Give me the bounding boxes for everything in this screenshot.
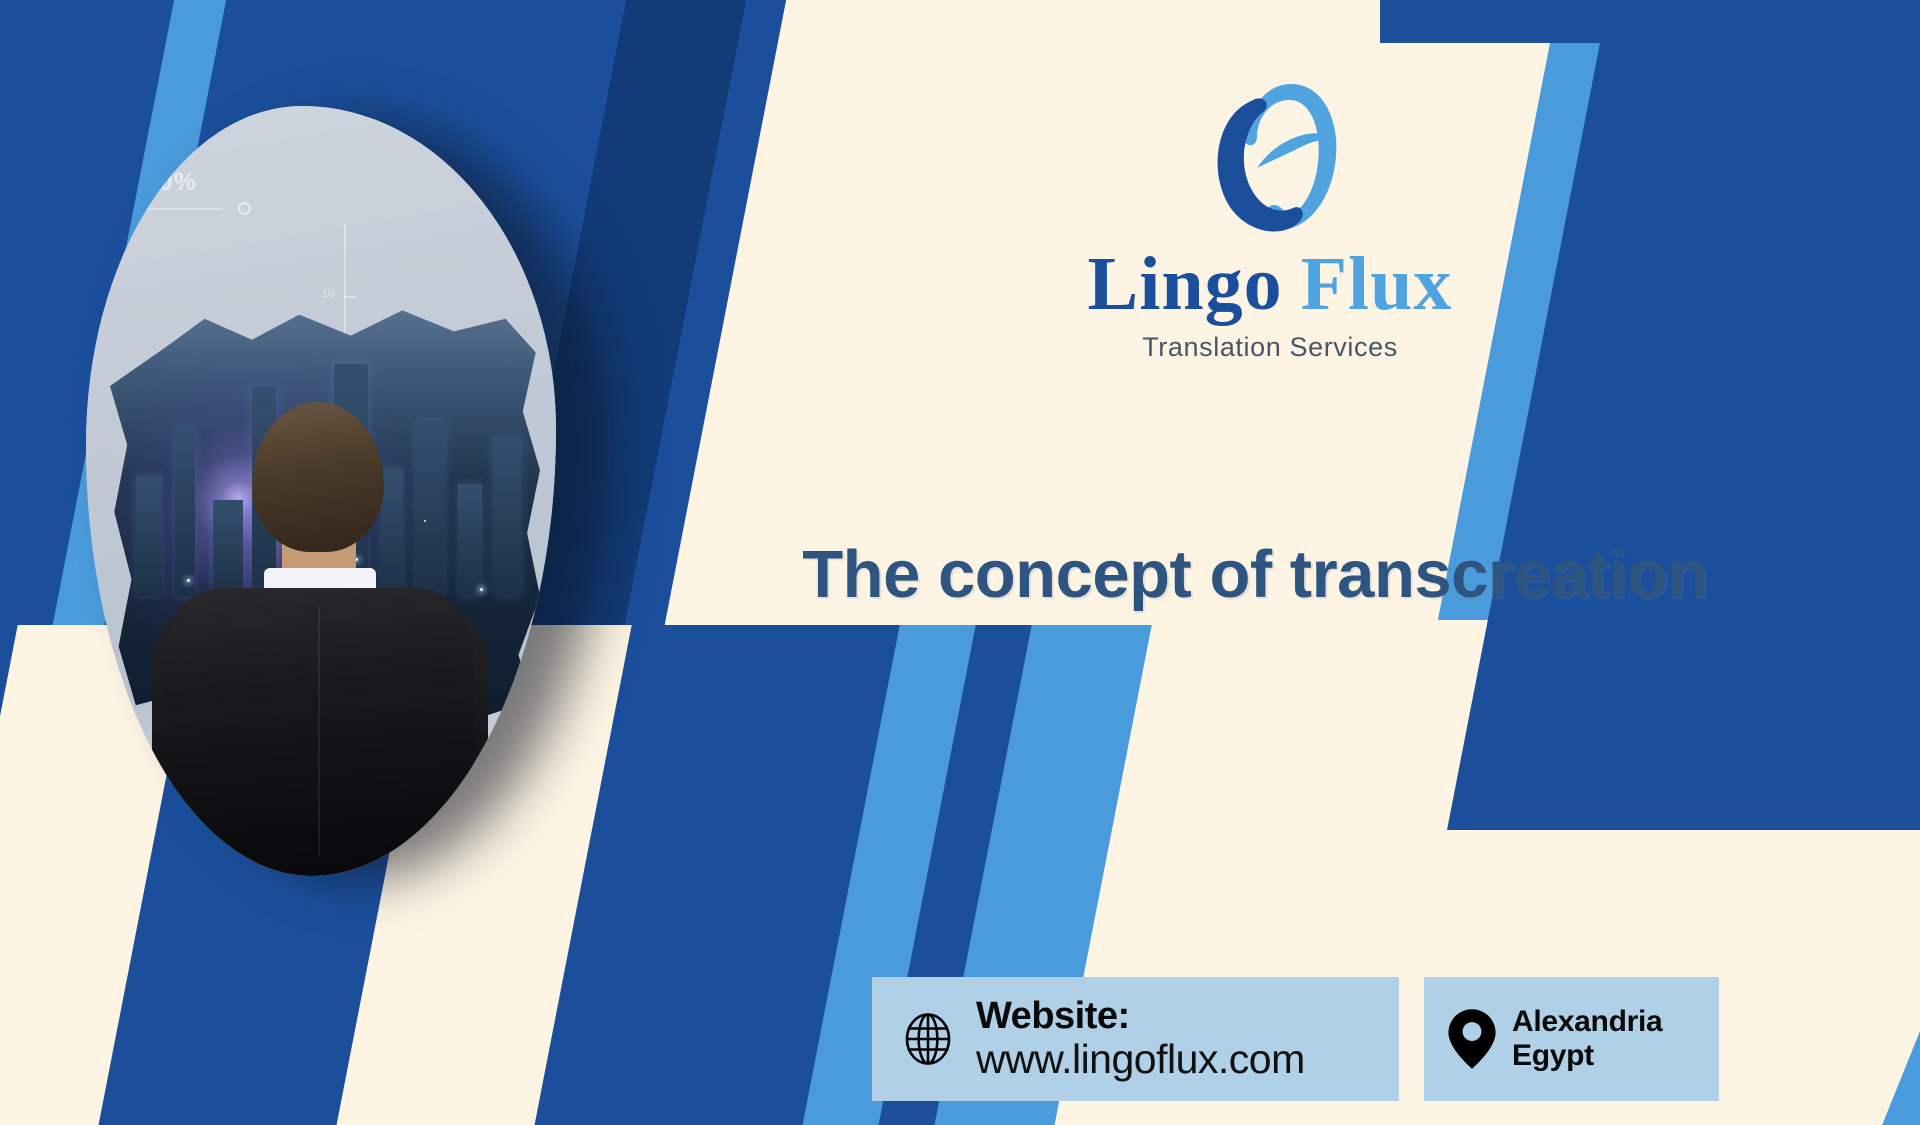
website-url[interactable]: www.lingoflux.com — [976, 1037, 1305, 1083]
photo-blob: 20% 10 9 — [86, 106, 556, 876]
map-pin-icon — [1446, 1008, 1498, 1070]
oval-monogram-icon — [1195, 72, 1345, 242]
location-country: Egypt — [1512, 1039, 1662, 1073]
globe-icon — [900, 1011, 956, 1067]
page-title: The concept of transcreation — [640, 540, 1870, 610]
topright-band-darkblue — [1380, 0, 1920, 43]
location-chip[interactable]: Alexandria Egypt — [1424, 977, 1719, 1101]
brand-logo: LingoFlux Translation Services — [1000, 72, 1540, 363]
brand-wordmark: LingoFlux — [1000, 246, 1540, 322]
brand-name-lingo: Lingo — [1088, 242, 1283, 326]
website-label: Website: — [976, 995, 1305, 1038]
businessman-figure — [86, 106, 556, 876]
website-chip[interactable]: Website: www.lingoflux.com — [872, 977, 1399, 1101]
brand-tagline: Translation Services — [1000, 332, 1540, 363]
brand-name-flux: Flux — [1301, 242, 1453, 326]
poster-canvas: 20% 10 9 — [0, 0, 1920, 1125]
location-city: Alexandria — [1512, 1005, 1662, 1039]
